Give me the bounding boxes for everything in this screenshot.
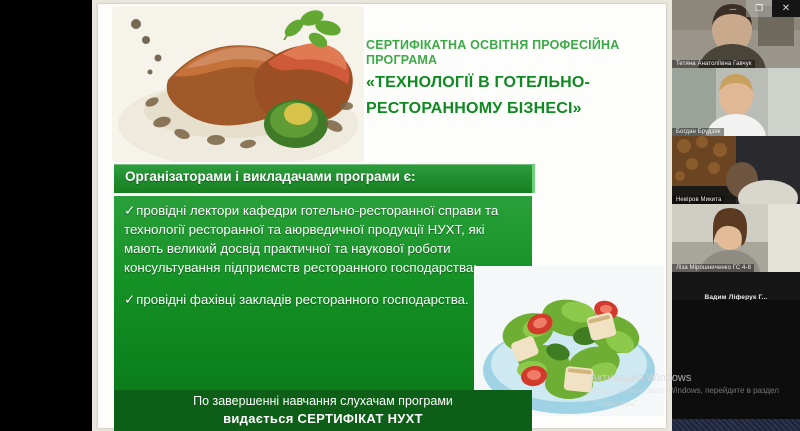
participant-name: Тетяна Анатоліївна Гавчук [672, 60, 755, 68]
slide-title-line1: СЕРТИФІКАТНА ОСВІТНЯ ПРОФЕСІЙНА [366, 38, 656, 53]
window-controls[interactable]: ─ ❐ ✕ [720, 0, 800, 17]
close-icon[interactable]: ✕ [772, 0, 800, 17]
participant-tile[interactable]: Невіров Микита [672, 136, 800, 204]
participant-video-art [672, 68, 800, 136]
participant-tile[interactable]: Богдан Брудзяк [672, 68, 800, 136]
slide-bullet-1-text: провідні лектори кафедри готельно-рестор… [124, 203, 498, 275]
slide-bullet-1: ✓провідні лектори кафедри готельно-ресто… [114, 196, 532, 277]
participant-video-art [672, 136, 800, 204]
minimize-icon[interactable]: ─ [720, 0, 746, 17]
maximize-icon[interactable]: ❐ [746, 0, 772, 17]
slide-title-line2: ПРОГРАМА [366, 53, 656, 68]
slide-title: СЕРТИФІКАТНА ОСВІТНЯ ПРОФЕСІЙНА ПРОГРАМА… [366, 38, 656, 119]
participant-name: Невіров Микита [672, 196, 724, 204]
check-icon: ✓ [124, 201, 135, 220]
slide-canvas: СЕРТИФІКАТНА ОСВІТНЯ ПРОФЕСІЙНА ПРОГРАМА… [98, 4, 666, 428]
participant-name: Богдан Брудзяк [672, 128, 724, 136]
slide-body-box: ✓провідні лектори кафедри готельно-ресто… [114, 196, 532, 390]
participants-rail[interactable]: Тетяна Анатоліївна Гавчук Богдан Брудзяк [672, 0, 800, 431]
slide-footer-line2: видається СЕРТИФІКАТ НУХТ [114, 408, 532, 426]
slide-section-header-text: Організаторами і викладачами програми є: [114, 164, 532, 184]
video-call-screen: СЕРТИФІКАТНА ОСВІТНЯ ПРОФЕСІЙНА ПРОГРАМА… [0, 0, 800, 431]
screen-share-stage[interactable]: СЕРТИФІКАТНА ОСВІТНЯ ПРОФЕСІЙНА ПРОГРАМА… [0, 0, 672, 431]
slide-section-header: Організаторами і викладачами програми є: [114, 164, 535, 193]
participant-name: Ліза Мірошниченко ГС 4-8 [672, 264, 754, 272]
rail-empty-area [672, 300, 800, 431]
steak-dish-photo [112, 6, 364, 162]
presentation-slide[interactable]: СЕРТИФІКАТНА ОСВІТНЯ ПРОФЕСІЙНА ПРОГРАМА… [92, 0, 672, 431]
slide-bullet-2: ✓провідні фахівці закладів ресторанного … [114, 277, 532, 309]
letterbox-left [0, 0, 92, 431]
participant-tile[interactable]: Ліза Мірошниченко ГС 4-8 [672, 204, 800, 272]
slide-bullet-2-text: провідні фахівці закладів ресторанного г… [136, 292, 469, 307]
taskbar-strip [672, 419, 800, 431]
participant-video-art [672, 204, 800, 272]
steak-photo-art [112, 6, 364, 162]
check-icon: ✓ [124, 290, 135, 309]
slide-footer: По завершенні навчання слухачам програми… [114, 390, 532, 431]
slide-title-line4: РЕСТОРАННОМУ БІЗНЕСІ» [366, 100, 656, 119]
slide-title-line3: «ТЕХНОЛОГІЇ В ГОТЕЛЬНО- [366, 74, 656, 93]
slide-footer-line1: По завершенні навчання слухачам програми [114, 390, 532, 408]
